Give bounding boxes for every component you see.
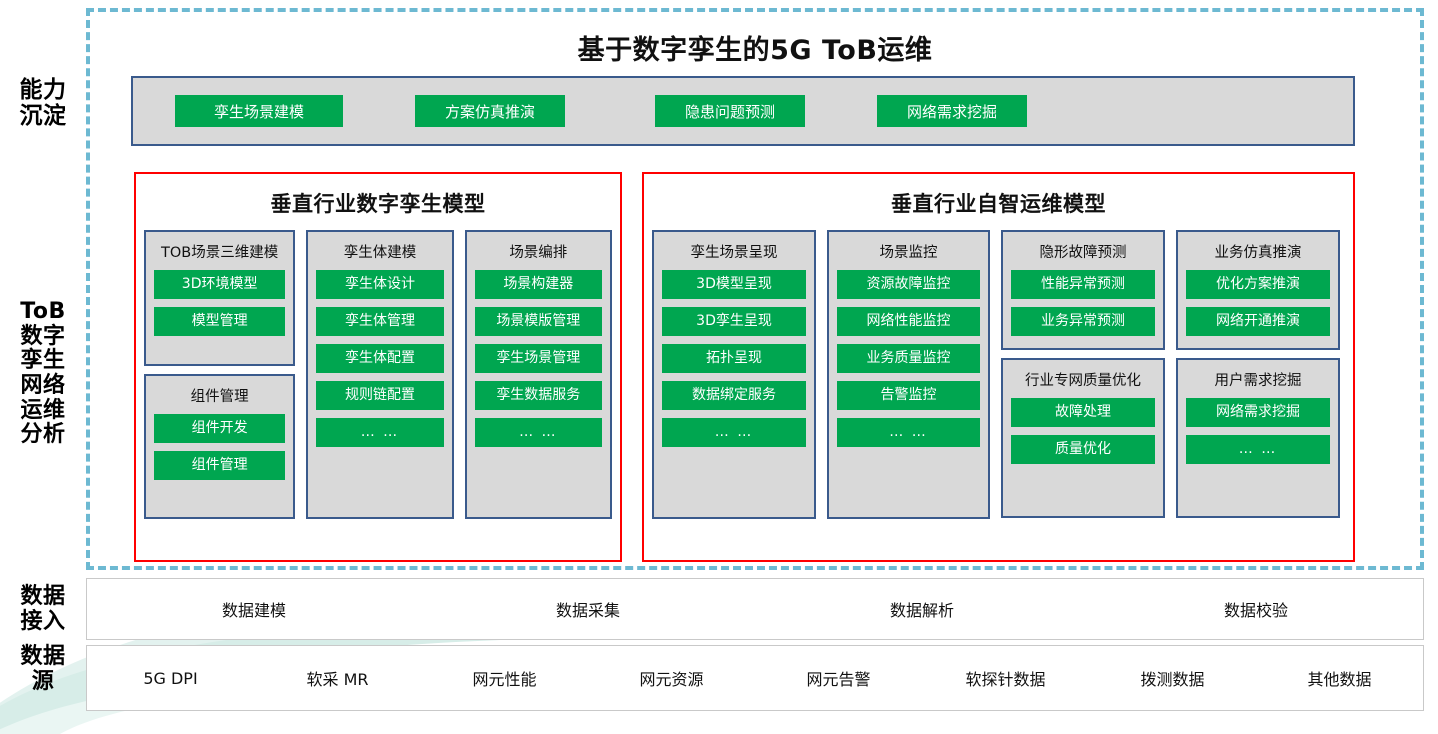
rail-line: 孪生 [0, 349, 86, 374]
item-more[interactable]: … … [662, 418, 806, 447]
item-twin-data-service[interactable]: 孪生数据服务 [475, 381, 602, 410]
rail-line: 源 [0, 670, 86, 695]
group-scene-orchestration: 场景编排 场景构建器 场景模版管理 孪生场景管理 孪生数据服务 … … [465, 230, 612, 519]
data-access-band: 数据建模 数据采集 数据解析 数据校验 [86, 578, 1424, 640]
rail-line: 能力 [0, 78, 86, 104]
capability-band: 孪生场景建模 方案仿真推演 隐患问题预测 网络需求挖掘 [131, 76, 1355, 146]
data-source-band: 5G DPI 软采 MR 网元性能 网元资源 网元告警 软探针数据 拨测数据 其… [86, 645, 1424, 711]
item-more[interactable]: … … [475, 418, 602, 447]
item-data-binding-service[interactable]: 数据绑定服务 [662, 381, 806, 410]
item-performance-anomaly-prediction[interactable]: 性能异常预测 [1011, 270, 1155, 299]
rail-line: 运维 [0, 399, 86, 424]
item-twin-entity-management[interactable]: 孪生体管理 [316, 307, 443, 336]
column-twin-entity-modeling: 孪生体建模 孪生体设计 孪生体管理 孪生体配置 规则链配置 … … [306, 230, 453, 519]
column-business-simulation: 业务仿真推演 优化方案推演 网络开通推演 用户需求挖掘 网络需求挖掘 … … [1176, 230, 1340, 518]
rail-line: 数字 [0, 325, 86, 350]
data-source-cell-other-data: 其他数据 [1256, 666, 1423, 690]
data-source-cell-ne-resource: 网元资源 [588, 666, 755, 690]
rail-line: 分析 [0, 423, 86, 448]
data-source-cell-ne-performance: 网元性能 [421, 666, 588, 690]
group-title: 用户需求挖掘 [1186, 369, 1330, 390]
item-rule-chain-configuration[interactable]: 规则链配置 [316, 381, 443, 410]
item-3d-environment-model[interactable]: 3D环境模型 [154, 270, 285, 299]
rail-label-tob-analysis: ToB 数字 孪生 网络 运维 分析 [0, 300, 86, 448]
section-title-autonomous-ops-model: 垂直行业自智运维模型 [644, 188, 1353, 218]
rail-line: 数据 [0, 645, 86, 670]
group-title: TOB场景三维建模 [154, 241, 285, 262]
item-scene-template-management[interactable]: 场景模版管理 [475, 307, 602, 336]
item-fault-handling[interactable]: 故障处理 [1011, 398, 1155, 427]
group-industry-private-network-quality-optimization: 行业专网质量优化 故障处理 质量优化 [1001, 358, 1165, 518]
group-title: 场景监控 [837, 241, 980, 262]
data-access-cell-data-modeling: 数据建模 [87, 597, 421, 621]
data-source-cell-soft-mr: 软采 MR [254, 666, 421, 690]
item-optimization-plan-deduction[interactable]: 优化方案推演 [1186, 270, 1330, 299]
rail-line: 接入 [0, 610, 86, 635]
capability-chip-twin-scene-modeling[interactable]: 孪生场景建模 [175, 95, 343, 127]
group-hidden-fault-prediction: 隐形故障预测 性能异常预测 业务异常预测 [1001, 230, 1165, 350]
item-more[interactable]: … … [1186, 435, 1330, 464]
column-twin-scene-presentation: 孪生场景呈现 3D模型呈现 3D孪生呈现 拓扑呈现 数据绑定服务 … … [652, 230, 816, 519]
section-columns: TOB场景三维建模 3D环境模型 模型管理 组件管理 组件开发 组件管理 孪生体… [136, 230, 620, 527]
group-component-management: 组件管理 组件开发 组件管理 [144, 374, 295, 519]
item-3d-model-presentation[interactable]: 3D模型呈现 [662, 270, 806, 299]
rail-label-capability: 能力 沉淀 [0, 78, 86, 130]
column-scene-monitoring: 场景监控 资源故障监控 网络性能监控 业务质量监控 告警监控 … … [827, 230, 990, 519]
section-digital-twin-model: 垂直行业数字孪生模型 TOB场景三维建模 3D环境模型 模型管理 组件管理 组件… [134, 172, 622, 562]
item-component-management[interactable]: 组件管理 [154, 451, 285, 480]
rail-label-data-access: 数据 接入 [0, 585, 86, 634]
item-twin-scene-management[interactable]: 孪生场景管理 [475, 344, 602, 373]
data-source-cell-5g-dpi: 5G DPI [87, 669, 254, 688]
group-tob-scene-3d-modeling: TOB场景三维建模 3D环境模型 模型管理 [144, 230, 295, 366]
capability-chip-solution-simulation[interactable]: 方案仿真推演 [415, 95, 565, 127]
item-network-demand-mining[interactable]: 网络需求挖掘 [1186, 398, 1330, 427]
group-title: 行业专网质量优化 [1011, 369, 1155, 390]
item-network-performance-monitoring[interactable]: 网络性能监控 [837, 307, 980, 336]
group-business-simulation-deduction: 业务仿真推演 优化方案推演 网络开通推演 [1176, 230, 1340, 350]
item-component-development[interactable]: 组件开发 [154, 414, 285, 443]
data-access-cell-data-collection: 数据采集 [421, 597, 755, 621]
column-fault-prediction: 隐形故障预测 性能异常预测 业务异常预测 行业专网质量优化 故障处理 质量优化 [1001, 230, 1165, 518]
column-tob-3d-modeling: TOB场景三维建模 3D环境模型 模型管理 组件管理 组件开发 组件管理 [144, 230, 295, 519]
group-scene-monitoring: 场景监控 资源故障监控 网络性能监控 业务质量监控 告警监控 … … [827, 230, 990, 519]
section-autonomous-ops-model: 垂直行业自智运维模型 孪生场景呈现 3D模型呈现 3D孪生呈现 拓扑呈现 数据绑… [642, 172, 1355, 562]
item-topology-presentation[interactable]: 拓扑呈现 [662, 344, 806, 373]
item-quality-optimization[interactable]: 质量优化 [1011, 435, 1155, 464]
item-alarm-monitoring[interactable]: 告警监控 [837, 381, 980, 410]
group-title: 业务仿真推演 [1186, 241, 1330, 262]
rail-line: 沉淀 [0, 104, 86, 130]
rail-line: 数据 [0, 585, 86, 610]
architecture-diagram: 能力 沉淀 ToB 数字 孪生 网络 运维 分析 数据 接入 数据 源 基于数字… [0, 0, 1438, 734]
group-title: 场景编排 [475, 241, 602, 262]
rail-label-data-source: 数据 源 [0, 645, 86, 694]
group-twin-entity-modeling: 孪生体建模 孪生体设计 孪生体管理 孪生体配置 规则链配置 … … [306, 230, 453, 519]
data-source-cell-soft-probe-data: 软探针数据 [922, 666, 1089, 690]
item-more[interactable]: … … [316, 418, 443, 447]
data-source-cell-dial-test-data: 拨测数据 [1089, 666, 1256, 690]
data-access-cell-data-verification: 数据校验 [1089, 597, 1423, 621]
item-service-anomaly-prediction[interactable]: 业务异常预测 [1011, 307, 1155, 336]
group-title: 组件管理 [154, 385, 285, 406]
group-title: 孪生体建模 [316, 241, 443, 262]
item-more[interactable]: … … [837, 418, 980, 447]
group-user-demand-mining: 用户需求挖掘 网络需求挖掘 … … [1176, 358, 1340, 518]
group-title: 孪生场景呈现 [662, 241, 806, 262]
item-network-provisioning-deduction[interactable]: 网络开通推演 [1186, 307, 1330, 336]
item-twin-entity-configuration[interactable]: 孪生体配置 [316, 344, 443, 373]
section-columns: 孪生场景呈现 3D模型呈现 3D孪生呈现 拓扑呈现 数据绑定服务 … … 场景监… [644, 230, 1353, 527]
capability-chip-network-demand-mining[interactable]: 网络需求挖掘 [877, 95, 1027, 127]
item-model-management[interactable]: 模型管理 [154, 307, 285, 336]
capability-chip-hidden-issue-prediction[interactable]: 隐患问题预测 [655, 95, 805, 127]
item-scene-builder[interactable]: 场景构建器 [475, 270, 602, 299]
group-twin-scene-presentation: 孪生场景呈现 3D模型呈现 3D孪生呈现 拓扑呈现 数据绑定服务 … … [652, 230, 816, 519]
item-twin-entity-design[interactable]: 孪生体设计 [316, 270, 443, 299]
section-title-digital-twin-model: 垂直行业数字孪生模型 [136, 188, 620, 218]
data-source-cell-ne-alarm: 网元告警 [755, 666, 922, 690]
group-title: 隐形故障预测 [1011, 241, 1155, 262]
item-3d-twin-presentation[interactable]: 3D孪生呈现 [662, 307, 806, 336]
rail-line: ToB [0, 300, 86, 325]
data-access-cell-data-parsing: 数据解析 [755, 597, 1089, 621]
rail-line: 网络 [0, 374, 86, 399]
page-title: 基于数字孪生的5G ToB运维 [86, 28, 1424, 67]
item-service-quality-monitoring[interactable]: 业务质量监控 [837, 344, 980, 373]
column-scene-orchestration: 场景编排 场景构建器 场景模版管理 孪生场景管理 孪生数据服务 … … [465, 230, 612, 519]
item-resource-fault-monitoring[interactable]: 资源故障监控 [837, 270, 980, 299]
